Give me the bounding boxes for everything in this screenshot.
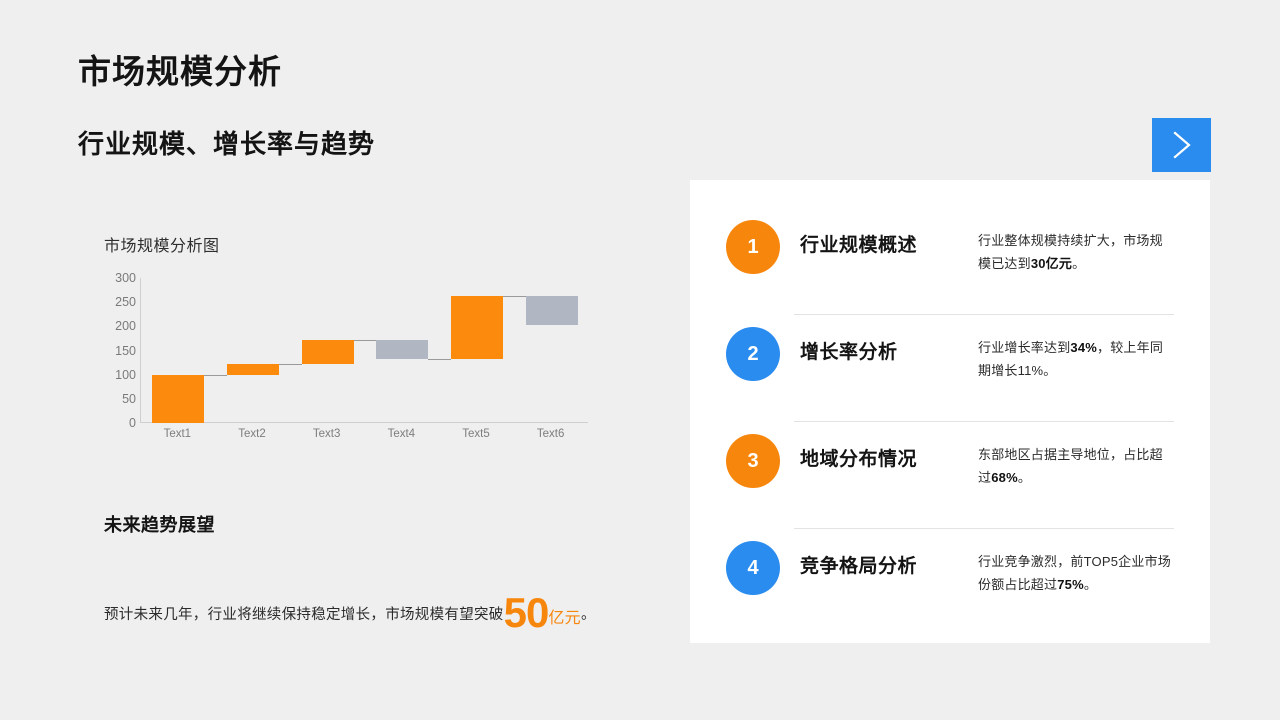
waterfall-connector (204, 375, 227, 376)
waterfall-connector (279, 364, 302, 365)
point-desc-highlight: 68% (991, 470, 1018, 485)
outlook-heading: 未来趋势展望 (104, 511, 644, 537)
point-title: 增长率分析 (800, 337, 978, 364)
page-title: 市场规模分析 (78, 52, 282, 92)
plot-inner (141, 278, 588, 422)
point-description: 行业增长率达到34%，较上年同期增长11%。 (978, 337, 1174, 383)
y-axis-tick: 50 (122, 392, 136, 406)
point-description: 东部地区占据主导地位，占比超过68%。 (978, 444, 1174, 490)
chart-caption: 市场规模分析图 (104, 232, 624, 256)
waterfall-connector (428, 359, 451, 360)
waterfall-bar (302, 340, 354, 364)
point-desc-highlight: 30亿元 (1031, 256, 1072, 271)
waterfall-chart: 300250200150100500 Text1Text2Text3Text4T… (104, 278, 604, 453)
chart-section: 市场规模分析图 300250200150100500 Text1Text2Tex… (104, 232, 624, 453)
key-points-card: 1行业规模概述行业整体规模持续扩大，市场规模已达到30亿元。2增长率分析行业增长… (690, 180, 1210, 643)
key-point-row[interactable]: 3地域分布情况东部地区占据主导地位，占比超过68%。 (726, 422, 1174, 529)
outlook-section: 未来趋势展望 预计未来几年，行业将继续保持稳定增长，市场规模有望突破50亿元。 (104, 511, 644, 644)
page-subtitle: 行业规模、增长率与趋势 (78, 129, 375, 160)
waterfall-connector (503, 296, 526, 297)
point-desc-tail: 。 (1018, 470, 1031, 485)
outlook-body: 预计未来几年，行业将继续保持稳定增长，市场规模有望突破50亿元。 (104, 581, 644, 644)
plot-area (140, 278, 588, 423)
key-point-row[interactable]: 1行业规模概述行业整体规模持续扩大，市场规模已达到30亿元。 (726, 208, 1174, 315)
point-desc-highlight: 34% (1070, 340, 1097, 355)
point-description: 行业竞争激烈，前TOP5企业市场份额占比超过75%。 (978, 551, 1174, 597)
waterfall-bar (376, 340, 428, 359)
y-axis-tick: 200 (115, 319, 136, 333)
outlook-text-tail: 。 (581, 607, 596, 623)
x-axis-tick: Text2 (238, 428, 266, 440)
outlook-text: 预计未来几年，行业将继续保持稳定增长，市场规模有望突破 (104, 607, 504, 623)
x-axis-tick: Text3 (313, 428, 341, 440)
waterfall-bar (227, 364, 279, 375)
point-number-badge: 1 (726, 220, 780, 274)
point-desc-tail: 。 (1084, 577, 1097, 592)
waterfall-bar (152, 375, 204, 423)
x-axis-tick: Text5 (462, 428, 490, 440)
waterfall-bar (526, 296, 578, 325)
y-axis-tick: 100 (115, 368, 136, 382)
waterfall-connector (354, 340, 377, 341)
point-desc-text: 行业增长率达到 (978, 340, 1070, 355)
outlook-highlight-number: 50 (504, 589, 549, 636)
point-number-badge: 4 (726, 541, 780, 595)
x-axis: Text1Text2Text3Text4Text5Text6 (140, 428, 588, 448)
y-axis-tick: 150 (115, 344, 136, 358)
y-axis-tick: 250 (115, 295, 136, 309)
point-title: 地域分布情况 (800, 444, 978, 471)
key-point-row[interactable]: 4竞争格局分析行业竞争激烈，前TOP5企业市场份额占比超过75%。 (726, 529, 1174, 636)
y-axis-tick: 0 (129, 416, 136, 430)
y-axis: 300250200150100500 (104, 278, 136, 423)
outlook-highlight-unit: 亿元 (548, 610, 581, 627)
next-slide-button[interactable] (1152, 118, 1211, 172)
key-point-row[interactable]: 2增长率分析行业增长率达到34%，较上年同期增长11%。 (726, 315, 1174, 422)
chevron-right-icon (1169, 129, 1195, 161)
x-axis-tick: Text6 (537, 428, 565, 440)
point-desc-highlight: 75% (1057, 577, 1084, 592)
point-title: 竞争格局分析 (800, 551, 978, 578)
x-axis-tick: Text4 (388, 428, 416, 440)
point-number-badge: 3 (726, 434, 780, 488)
waterfall-bar (451, 296, 503, 359)
x-axis-tick: Text1 (164, 428, 192, 440)
y-axis-tick: 300 (115, 271, 136, 285)
point-desc-tail: 。 (1072, 256, 1085, 271)
point-number-badge: 2 (726, 327, 780, 381)
point-title: 行业规模概述 (800, 230, 978, 257)
point-description: 行业整体规模持续扩大，市场规模已达到30亿元。 (978, 230, 1174, 276)
